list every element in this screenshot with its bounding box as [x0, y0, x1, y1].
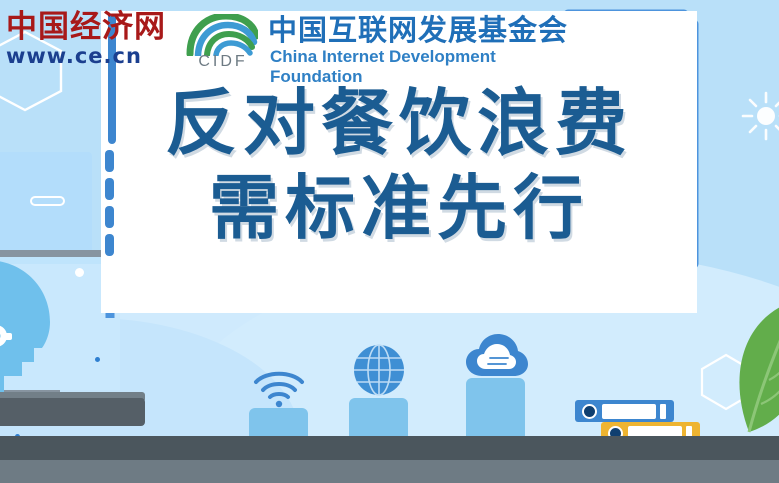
poster: 反对餐饮浪费 需标准先行 中国经济网 www.ce.cn CIDF 中国互联网发…	[0, 0, 779, 483]
wifi-icon	[252, 368, 306, 408]
headline-line-2: 需标准先行	[101, 166, 697, 250]
headline: 反对餐饮浪费 需标准先行	[101, 80, 697, 250]
cloud-icon	[466, 334, 528, 380]
cidf-logo[interactable]: CIDF 中国互联网发展基金会 China Internet Developme…	[186, 14, 586, 74]
globe-icon	[352, 343, 406, 397]
decor-dot	[75, 268, 84, 277]
pedestal-2	[349, 398, 408, 438]
pedestal-3	[466, 378, 525, 438]
cidf-name-cn: 中国互联网发展基金会	[268, 14, 568, 46]
decor-dot	[95, 357, 100, 362]
headline-line-1: 反对餐饮浪费	[101, 80, 697, 166]
head-gears-icon	[0, 258, 68, 408]
ce-logo-name: 中国经济网	[6, 10, 176, 44]
pedestal-1	[249, 408, 308, 438]
cidf-name-en: China Internet Development Foundation	[270, 47, 586, 87]
laptop-base	[0, 398, 145, 426]
cidf-mark-icon	[186, 14, 258, 54]
binder-label	[602, 404, 656, 419]
ground-light	[0, 460, 779, 483]
binder-ring	[582, 404, 597, 419]
leaf-icon	[735, 300, 779, 430]
ground-dark	[0, 436, 779, 460]
ce-logo-url: www.ce.cn	[6, 44, 176, 68]
tablet-speaker	[30, 196, 65, 206]
cidf-abbr: CIDF	[187, 53, 259, 71]
binder-blue	[575, 400, 674, 422]
ce-logo[interactable]: 中国经济网 www.ce.cn	[6, 10, 176, 68]
binder-tab	[660, 404, 666, 419]
sun-icon	[738, 88, 779, 144]
